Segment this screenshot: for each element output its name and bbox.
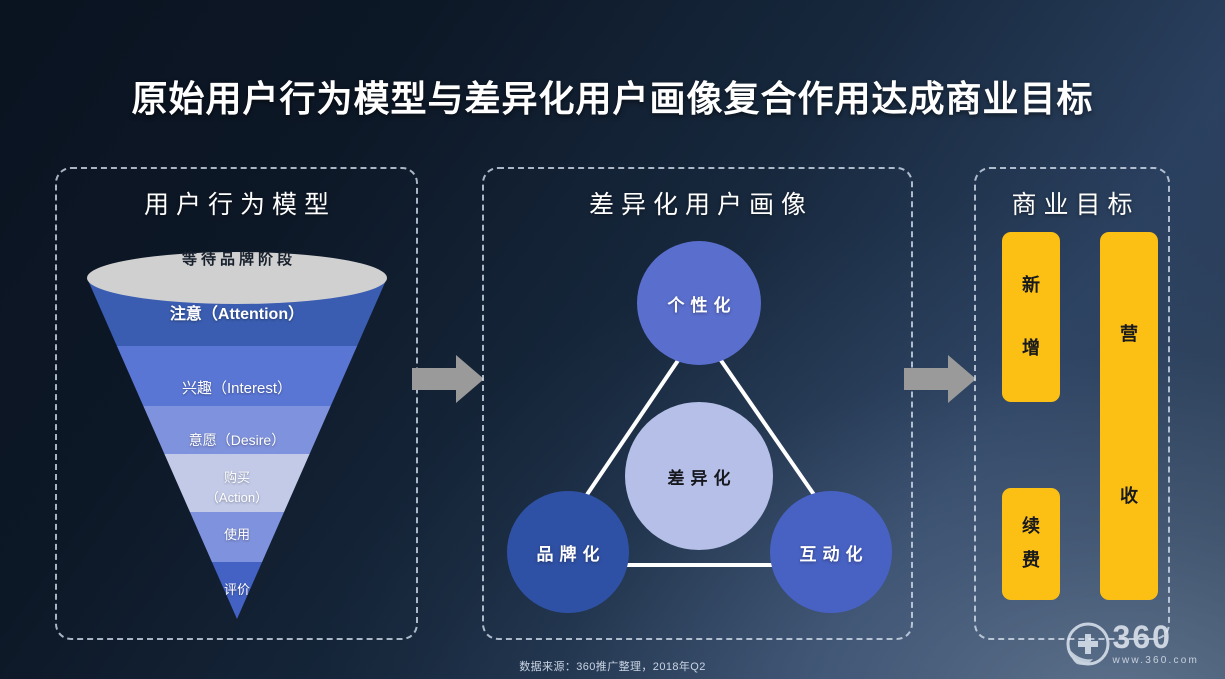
funnel-layer-usage <box>77 512 397 562</box>
goal-bar-char: 新 <box>1022 276 1040 296</box>
funnel-svg <box>77 234 397 624</box>
persona-node-branding[interactable]: 品牌化 <box>507 491 629 613</box>
funnel-chart: 等待品牌阶段 注意（Attention） 兴趣（Interest） 意愿（Des… <box>77 234 397 624</box>
persona-node-label: 个性化 <box>662 291 737 316</box>
logo-brand-text: 360 <box>1113 622 1172 652</box>
slide-canvas: 原始用户行为模型与差异化用户画像复合作用达成商业目标 用户行为模型 <box>0 0 1225 679</box>
arrow-right-icon <box>904 355 976 403</box>
brand-logo-360: 360 www.360.com <box>1065 621 1199 667</box>
persona-node-differentiation[interactable]: 差异化 <box>625 402 773 550</box>
persona-node-label: 品牌化 <box>531 540 606 565</box>
plus-circle-icon <box>1065 621 1111 667</box>
goal-bar-char: 营 <box>1120 325 1138 345</box>
source-note: 数据来源：360推广整理，2018年Q2 <box>0 658 1225 674</box>
funnel-layer-review <box>77 562 397 624</box>
goal-bar-char: 费 <box>1022 551 1040 571</box>
funnel-layer-action <box>77 454 397 512</box>
goal-bar-char: 增 <box>1022 339 1040 359</box>
page-title: 原始用户行为模型与差异化用户画像复合作用达成商业目标 <box>0 70 1225 122</box>
goal-bar-char: 收 <box>1120 487 1138 507</box>
persona-node-label: 互动化 <box>794 540 869 565</box>
funnel-top-cap <box>87 252 387 304</box>
goal-bar-char: 续 <box>1022 517 1040 537</box>
goal-bar-revenue[interactable]: 营 收 <box>1100 232 1158 600</box>
funnel-layer-desire <box>77 406 397 454</box>
panel-title-persona: 差异化用户画像 <box>484 185 911 221</box>
funnel-layer-interest <box>77 346 397 406</box>
logo-url-text: www.360.com <box>1113 655 1199 666</box>
persona-node-label: 差异化 <box>662 464 737 489</box>
goal-bar-new-users[interactable]: 新 增 <box>1002 232 1060 402</box>
panel-differentiated-persona: 差异化用户画像 个性化 差异化 品牌化 互动化 <box>482 167 913 640</box>
goal-bar-renewal[interactable]: 续 费 <box>1002 488 1060 600</box>
panel-title-goal: 商业目标 <box>976 185 1168 221</box>
persona-node-personalization[interactable]: 个性化 <box>637 241 761 365</box>
persona-node-interaction[interactable]: 互动化 <box>770 491 892 613</box>
panel-user-behavior-model: 用户行为模型 等待品牌阶段 注意（Atte <box>55 167 418 640</box>
panel-title-behavior: 用户行为模型 <box>57 185 416 221</box>
panel-business-goal: 商业目标 新 增 续 费 营 收 <box>974 167 1170 640</box>
arrow-right-icon <box>412 355 484 403</box>
